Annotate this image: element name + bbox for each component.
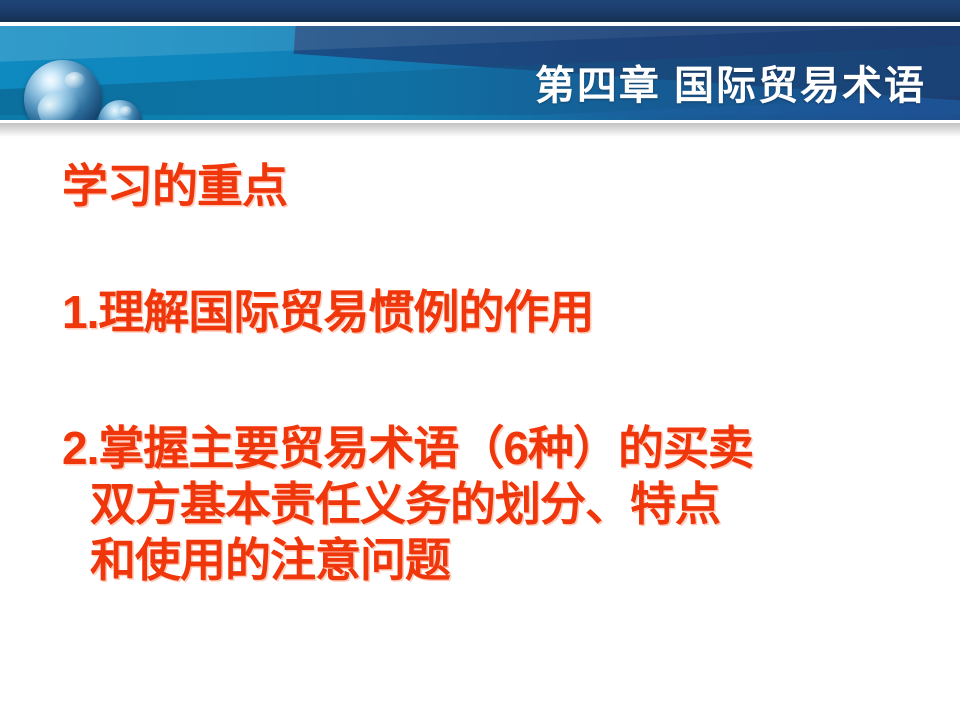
small-sphere-icon	[98, 100, 142, 120]
metallic-spheres-logo-icon	[18, 56, 148, 120]
body-list-item-2-line-2: 双方基本责任义务的划分、特点	[90, 481, 720, 527]
slide-header-banner: 第四章 国际贸易术语	[0, 26, 960, 120]
body-list-item-1: 1.理解国际贸易惯例的作用	[62, 289, 593, 335]
header-grey-strip-highlight	[0, 121, 960, 123]
body-list-item-2-line-1: 2.掌握主要贸易术语（6种）的买卖	[62, 425, 753, 471]
presentation-slide: 第四章 国际贸易术语 学习的重点 1.理解国际贸易惯例的作用 2.掌握主要贸易术…	[0, 0, 960, 720]
body-heading: 学习的重点	[62, 163, 287, 209]
large-sphere-icon	[24, 60, 102, 120]
slide-body: 学习的重点 1.理解国际贸易惯例的作用 2.掌握主要贸易术语（6种）的买卖 双方…	[0, 137, 960, 720]
body-list-item-2-line-3: 和使用的注意问题	[90, 537, 450, 583]
slide-top-navy-bar	[0, 0, 960, 22]
slide-header-title: 第四章 国际贸易术语	[535, 66, 926, 106]
header-grey-fade-strip	[0, 121, 960, 137]
